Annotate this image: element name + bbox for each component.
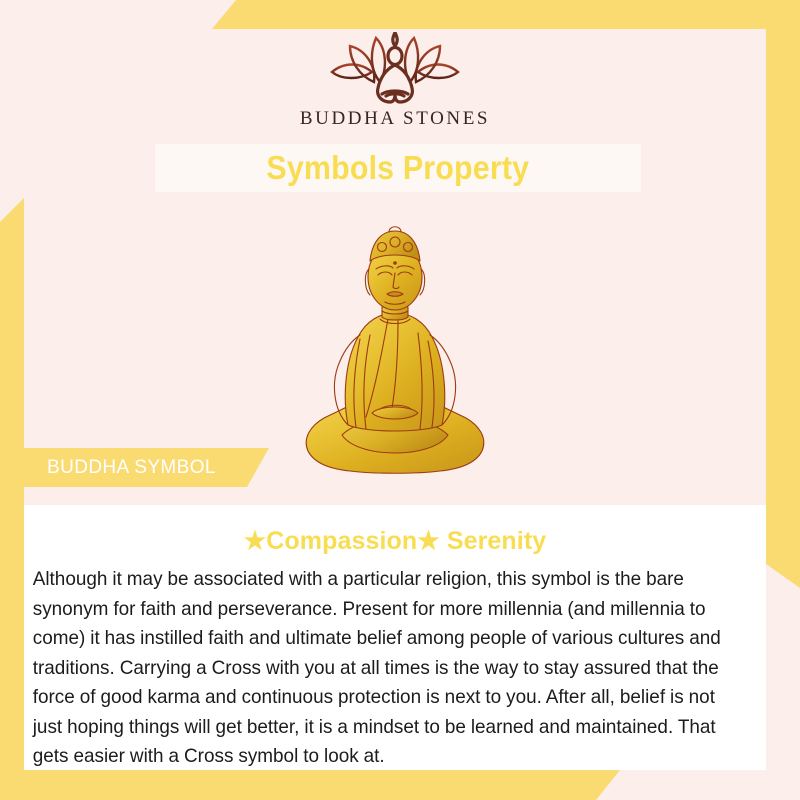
subtitle-word-compassion: Compassion — [266, 527, 417, 555]
page-title: Symbols Property — [267, 149, 530, 187]
brand-header: BUDDHA STONES — [24, 29, 766, 144]
category-tag: BUDDHA SYMBOL — [24, 448, 269, 487]
decorative-band-left — [0, 198, 24, 800]
decorative-band-top — [212, 0, 800, 29]
infographic-page: BUDDHA STONES Symbols Property — [0, 0, 800, 800]
content-paragraph: Although it may be associated with a par… — [24, 556, 744, 772]
star-icon-2: ★ — [417, 527, 440, 555]
decorative-band-right — [766, 0, 800, 588]
category-tag-label: BUDDHA SYMBOL — [47, 457, 216, 479]
golden-seated-buddha-statue — [290, 199, 500, 499]
decorative-band-bottom — [0, 770, 620, 800]
page-surface: BUDDHA STONES Symbols Property — [24, 29, 766, 770]
lotus-meditation-figure-icon — [320, 32, 470, 104]
subtitle-word-serenity: Serenity — [447, 527, 546, 555]
content-subtitle: ★Compassion★ Serenity — [24, 505, 766, 556]
title-banner: Symbols Property — [155, 144, 641, 192]
star-icon-1: ★ — [244, 527, 267, 555]
content-panel: ★Compassion★ Serenity Although it may be… — [24, 505, 766, 770]
brand-wordmark: BUDDHA STONES — [300, 108, 490, 130]
